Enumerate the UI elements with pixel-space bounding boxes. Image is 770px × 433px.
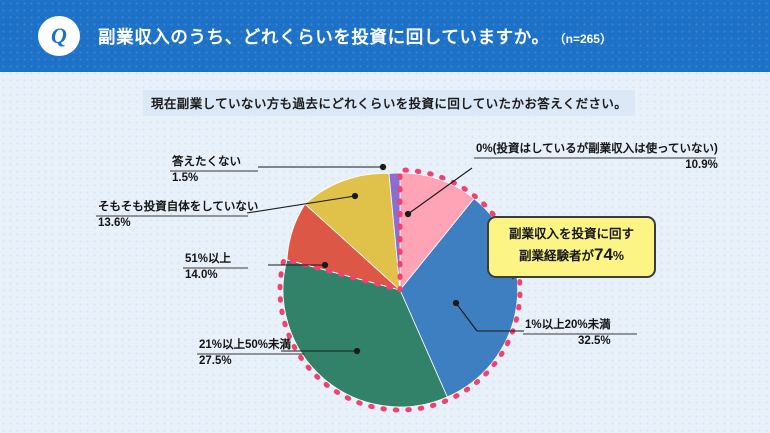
pie-chart: 0%(投資はしているが副業収入は使っていない) 10.9% 答えたくない 1.5… xyxy=(0,0,770,433)
callout-line-1: 副業収入を投資に回す xyxy=(509,227,634,241)
slide-canvas: Q 副業収入のうち、どれくらいを投資に回していますか。（n=265） 現在副業し… xyxy=(0,0,770,433)
label-1-to-20-value: 32.5% xyxy=(525,334,611,350)
label-21-to-50: 21%以上50%未満 27.5% xyxy=(199,338,291,369)
callout-percent-suffix: % xyxy=(613,249,624,263)
label-no-answer: 答えたくない 1.5% xyxy=(172,155,241,186)
label-0-percent-text: 0%(投資はしているが副業収入は使っていない) xyxy=(476,142,718,158)
label-0-percent-value: 10.9% xyxy=(476,158,718,174)
label-no-answer-value: 1.5% xyxy=(172,171,241,187)
highlight-callout: 副業収入を投資に回す 副業経験者が74% xyxy=(487,216,656,278)
label-over-51: 51%以上 14.0% xyxy=(185,252,231,283)
label-21-to-50-text: 21%以上50%未満 xyxy=(199,338,291,354)
label-1-to-20: 1%以上20%未満 32.5% xyxy=(525,318,611,349)
label-over-51-value: 14.0% xyxy=(185,268,231,284)
label-over-51-text: 51%以上 xyxy=(185,252,231,268)
label-no-investment: そもそも投資自体をしていない 13.6% xyxy=(98,200,258,231)
label-no-investment-text: そもそも投資自体をしていない xyxy=(98,200,258,216)
label-21-to-50-value: 27.5% xyxy=(199,354,291,370)
label-0-percent: 0%(投資はしているが副業収入は使っていない) 10.9% xyxy=(476,142,718,173)
callout-percent-value: 74 xyxy=(594,245,613,264)
label-1-to-20-text: 1%以上20%未満 xyxy=(525,318,611,334)
callout-line-2-prefix: 副業経験者が xyxy=(519,249,594,263)
label-no-answer-text: 答えたくない xyxy=(172,155,241,171)
label-no-investment-value: 13.6% xyxy=(98,216,258,232)
